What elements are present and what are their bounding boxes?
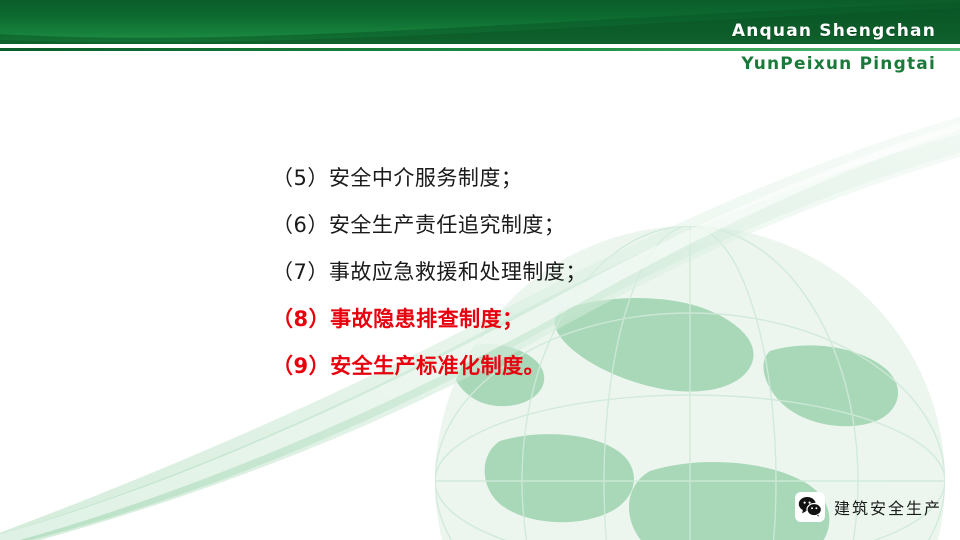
header-rule xyxy=(0,48,960,51)
brand-title-line1: Anquan Shengchan xyxy=(732,22,936,42)
footer-logo: 建筑安全生产 xyxy=(795,492,942,522)
list-item: （7）事故应急救援和处理制度； xyxy=(272,249,872,296)
list-item: （5）安全中介服务制度； xyxy=(272,155,872,202)
footer-label: 建筑安全生产 xyxy=(834,495,942,519)
header-band: Anquan Shengchan xyxy=(0,0,960,48)
brand-title-line2: YunPeixun Pingtai xyxy=(741,55,936,75)
slide: Anquan Shengchan YunPeixun Pingtai xyxy=(0,0,960,540)
brand-title: Anquan Shengchan xyxy=(732,22,936,42)
content-list: （5）安全中介服务制度； （6）安全生产责任追究制度； （7）事故应急救援和处理… xyxy=(272,155,872,390)
list-item: （8）事故隐患排查制度； xyxy=(272,296,872,343)
wechat-icon xyxy=(795,492,825,522)
list-item: （9）安全生产标准化制度。 xyxy=(272,343,872,390)
brand-subtitle: YunPeixun Pingtai xyxy=(741,52,936,75)
list-item: （6）安全生产责任追究制度； xyxy=(272,202,872,249)
wechat-icon-glyph xyxy=(797,494,823,520)
